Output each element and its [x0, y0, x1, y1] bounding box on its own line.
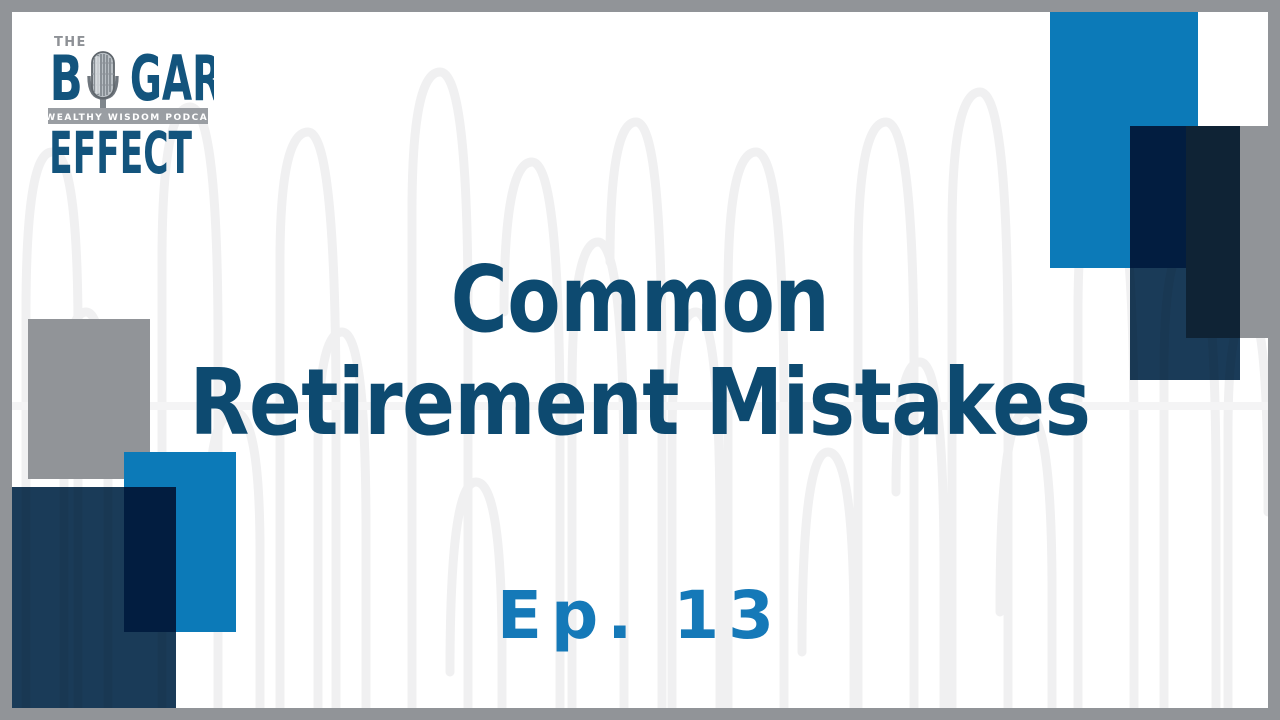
logo-brand-effect: EFFECT: [49, 119, 192, 176]
logo-brand-gart: GART: [130, 42, 214, 115]
mic-icon: [89, 52, 117, 117]
podcast-logo[interactable]: THE B GART: [34, 26, 214, 176]
page-title-line-2: Retirement Mistakes: [50, 351, 1231, 454]
slide-canvas: THE B GART: [12, 12, 1268, 708]
page-title: Common Retirement Mistakes: [50, 248, 1231, 454]
episode-label: Ep. 13: [12, 577, 1268, 654]
slide-frame: THE B GART: [0, 0, 1280, 720]
page-title-line-1: Common: [50, 248, 1231, 351]
logo-brand-b: B: [50, 43, 83, 115]
